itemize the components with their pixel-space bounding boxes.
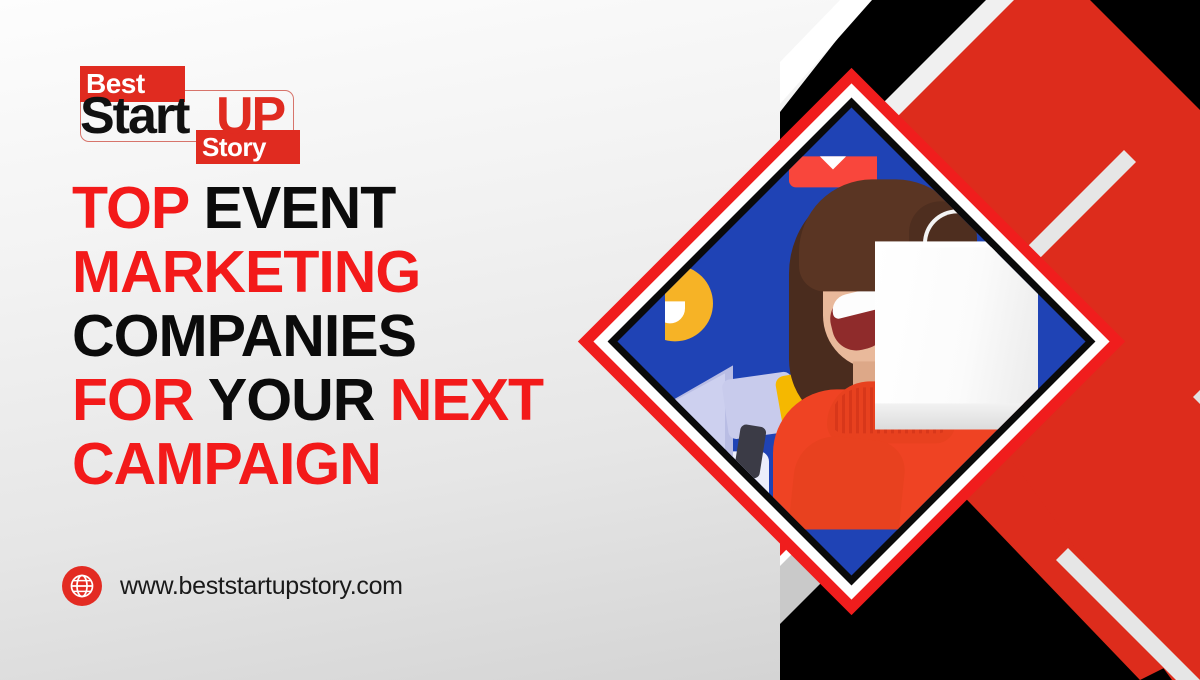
shopping-bag-body	[875, 247, 1038, 429]
banner-canvas: Best Start UP Story TOP EVENT MARKETING …	[0, 0, 1200, 680]
headline-seg-for: FOR	[72, 367, 208, 433]
shopping-bag-fold	[875, 403, 1038, 429]
headline-seg-campaign: CAMPAIGN	[72, 431, 381, 497]
website-url[interactable]: www.beststartupstory.com	[120, 572, 403, 601]
headline-seg-companies: COMPANIES	[72, 303, 416, 369]
photo-scene	[665, 156, 1038, 529]
headline-line-5: CAMPAIGN	[72, 432, 592, 496]
diamond-white-border	[593, 83, 1109, 599]
headline-seg-your: YOUR	[208, 367, 390, 433]
diamond-photo-badge	[578, 68, 1126, 616]
shopping-bag-icon	[875, 207, 1038, 437]
photo-unrotate	[665, 156, 1038, 529]
brand-logo[interactable]: Best Start UP Story	[68, 62, 308, 166]
diamond-red-border	[578, 68, 1125, 615]
headline-seg-event: EVENT	[204, 175, 396, 241]
headline-seg-top: TOP	[72, 175, 204, 241]
diamond-black-border	[608, 98, 1096, 586]
logo-word-start: Start	[80, 88, 188, 144]
logo-word-story: Story	[202, 130, 302, 164]
headline-line-3: COMPANIES	[72, 304, 592, 368]
megaphone-horn-inner	[665, 373, 725, 449]
headline-line-1: TOP EVENT	[72, 176, 592, 240]
diamond-photo-area	[617, 107, 1085, 575]
website-row[interactable]: www.beststartupstory.com	[62, 566, 403, 606]
headline-seg-next: NEXT	[390, 367, 543, 433]
headline-line-2: MARKETING	[72, 240, 592, 304]
emoji-mouth	[665, 301, 685, 323]
emoji-disc-icon	[665, 265, 713, 341]
globe-icon	[62, 566, 102, 606]
heart-icon	[815, 156, 851, 172]
headline-seg-marketing: MARKETING	[72, 239, 420, 305]
headline-line-4: FOR YOUR NEXT	[72, 368, 592, 432]
page-title: TOP EVENT MARKETING COMPANIES FOR YOUR N…	[72, 176, 592, 496]
